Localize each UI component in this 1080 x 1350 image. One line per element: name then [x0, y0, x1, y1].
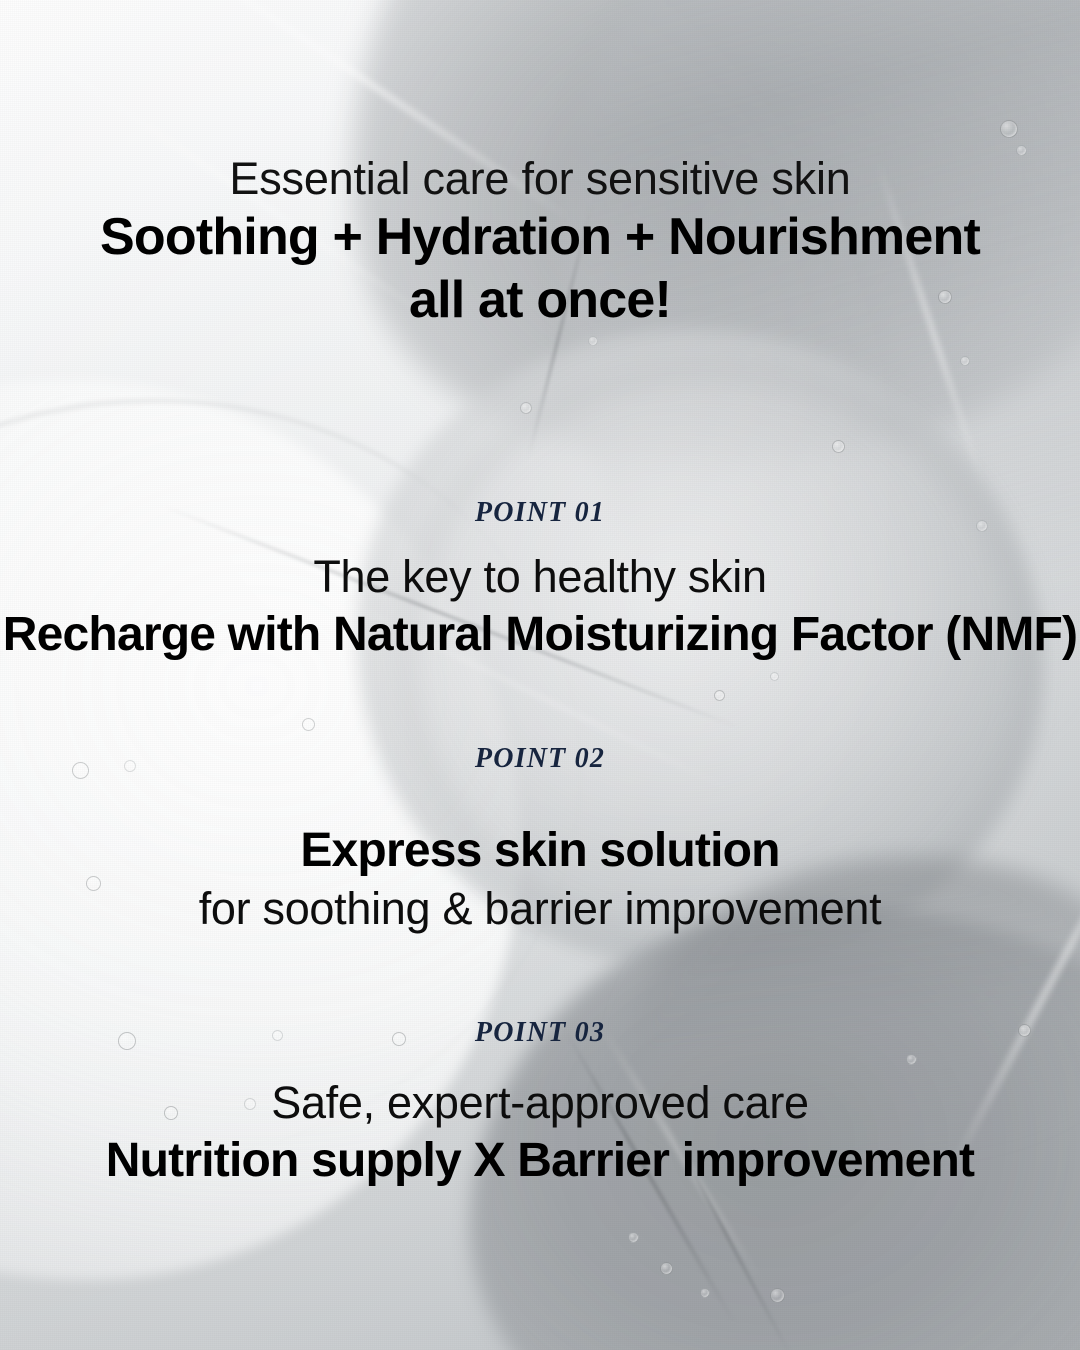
point-section-02: POINT 02 Express skin solution for sooth… [0, 744, 1080, 938]
point-section-01: POINT 01 The key to healthy skin Recharg… [0, 498, 1080, 666]
point-02-lines: Express skin solution for soothing & bar… [0, 821, 1080, 938]
headline-subtitle: Essential care for sensitive skin [0, 152, 1080, 205]
point-03-lines: Safe, expert-approved care Nutrition sup… [0, 1075, 1080, 1192]
point-01-line-2: Recharge with Natural Moisturizing Facto… [0, 605, 1080, 665]
headline-block: Essential care for sensitive skin Soothi… [0, 152, 1080, 332]
content-layer: Essential care for sensitive skin Soothi… [0, 0, 1080, 1350]
point-01-kicker: POINT 01 [0, 498, 1080, 529]
headline-main-line-1: Soothing + Hydration + Nourishment [0, 205, 1080, 269]
promo-canvas: Essential care for sensitive skin Soothi… [0, 0, 1080, 1350]
point-03-line-1: Safe, expert-approved care [0, 1075, 1080, 1132]
point-03-kicker: POINT 03 [0, 1018, 1080, 1049]
point-02-line-1: Express skin solution [0, 821, 1080, 881]
point-02-kicker: POINT 02 [0, 744, 1080, 775]
point-02-line-2: for soothing & barrier improvement [0, 881, 1080, 938]
point-01-line-1: The key to healthy skin [0, 549, 1080, 606]
point-03-line-2: Nutrition supply X Barrier improvement [0, 1131, 1080, 1191]
point-01-lines: The key to healthy skin Recharge with Na… [0, 549, 1080, 666]
headline-main-line-2: all at once! [0, 268, 1080, 332]
point-section-03: POINT 03 Safe, expert-approved care Nutr… [0, 1018, 1080, 1192]
